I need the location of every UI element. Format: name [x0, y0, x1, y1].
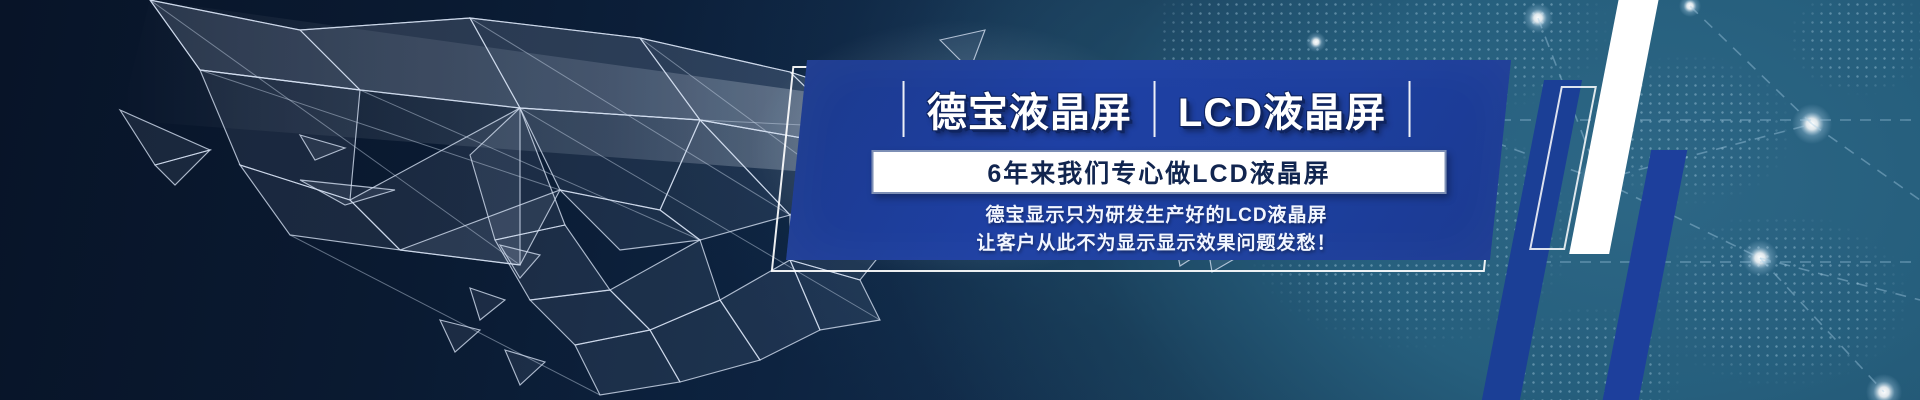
promo-banner: 德宝液晶屏 LCD液晶屏 6年来我们专心做LCD液晶屏 德宝显示只为研发生产好的…	[0, 0, 1920, 400]
subtitle-text: 6年来我们专心做LCD液晶屏	[987, 154, 1330, 190]
headline-row: 德宝液晶屏 LCD液晶屏	[857, 78, 1457, 140]
headline-divider-right	[1408, 81, 1410, 137]
panel-background: 德宝液晶屏 LCD液晶屏 6年来我们专心做LCD液晶屏 德宝显示只为研发生产好的…	[786, 60, 1511, 260]
product-label: LCD液晶屏	[1156, 80, 1408, 138]
subtitle-box: 6年来我们专心做LCD液晶屏	[872, 150, 1447, 194]
message-panel: 德宝液晶屏 LCD液晶屏 6年来我们专心做LCD液晶屏 德宝显示只为研发生产好的…	[779, 60, 1511, 270]
tagline-group: 德宝显示只为研发生产好的LCD液晶屏 让客户从此不为显示显示效果问题发愁！	[857, 202, 1457, 258]
brand-label: 德宝液晶屏	[905, 80, 1154, 138]
tagline-1: 德宝显示只为研发生产好的LCD液晶屏	[857, 202, 1457, 230]
tagline-2: 让客户从此不为显示显示效果问题发愁！	[857, 230, 1457, 258]
